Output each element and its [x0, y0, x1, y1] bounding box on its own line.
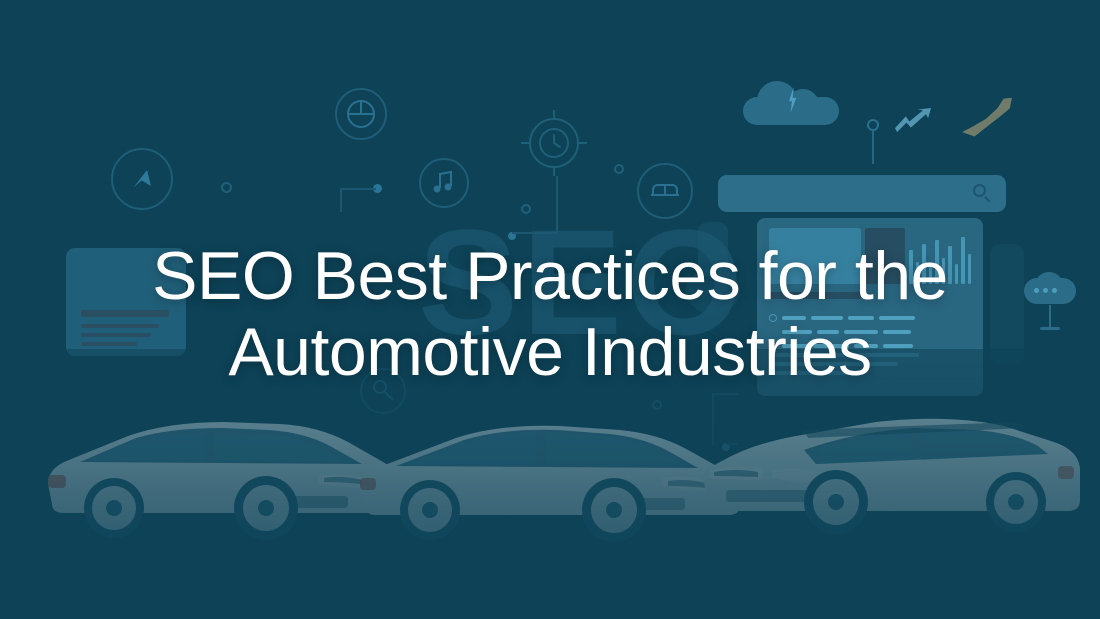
- car-front-icon: [637, 163, 693, 219]
- car-sedan-right: [686, 388, 1096, 540]
- decor-dot: [614, 164, 624, 174]
- map-pin-icon: [866, 118, 880, 164]
- circuit-line: [556, 176, 558, 234]
- page-title: SEO Best Practices for the Automotive In…: [0, 238, 1100, 390]
- pie-chart-icon: [335, 88, 387, 140]
- zigzag-arrow-icon: [895, 108, 931, 136]
- circuit-line: [512, 232, 558, 234]
- compass-navigation-icon: [111, 148, 173, 210]
- decor-dot: [521, 204, 531, 214]
- target-crosshair-icon: [521, 110, 587, 176]
- search-input[interactable]: [718, 175, 1006, 212]
- page-title-line-1: SEO Best Practices for the: [34, 238, 1066, 314]
- search-icon: [973, 184, 986, 197]
- growth-arrow-icon: [962, 96, 1014, 140]
- music-note-icon: [419, 158, 469, 208]
- hero-banner: SEO: [0, 0, 1100, 619]
- circuit-line: [340, 188, 342, 212]
- page-title-line-2: Automotive Industries: [34, 314, 1066, 390]
- circuit-line: [340, 188, 376, 190]
- cloud-upload-icon: [743, 81, 839, 125]
- decor-dot: [221, 182, 232, 193]
